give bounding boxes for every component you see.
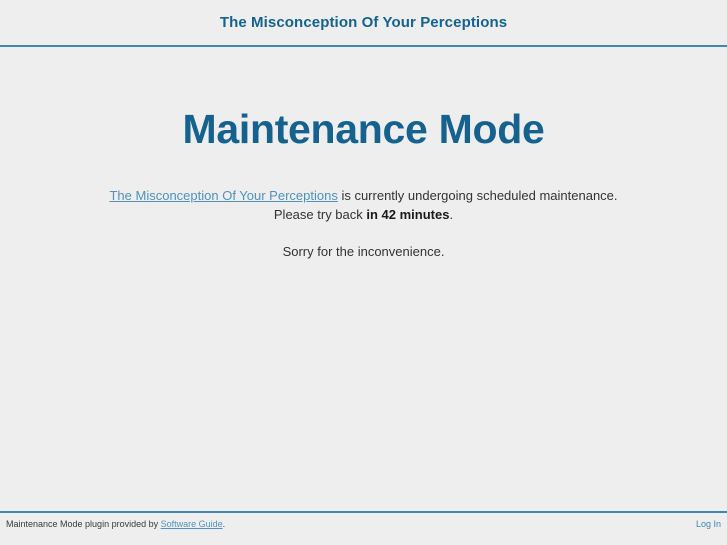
footer-credit-prefix: Maintenance Mode plugin provided by xyxy=(6,519,161,529)
maintenance-message-text: is currently undergoing scheduled mainte… xyxy=(338,188,618,203)
site-header: The Misconception Of Your Perceptions xyxy=(0,0,727,47)
try-back-prefix: Please try back xyxy=(274,207,367,222)
site-title: The Misconception Of Your Perceptions xyxy=(220,14,507,32)
plugin-provider-link[interactable]: Software Guide xyxy=(161,519,223,529)
site-footer: Maintenance Mode plugin provided by Soft… xyxy=(0,511,727,545)
retry-eta: in 42 minutes xyxy=(366,207,449,222)
footer-inner: Maintenance Mode plugin provided by Soft… xyxy=(0,513,727,545)
log-in-link[interactable]: Log In xyxy=(696,518,721,530)
maintenance-content: Maintenance Mode The Misconception Of Yo… xyxy=(0,47,727,261)
footer-credit-suffix: . xyxy=(223,519,226,529)
try-back-suffix: . xyxy=(449,207,453,222)
site-home-link[interactable]: The Misconception Of Your Perceptions xyxy=(109,188,337,203)
page-title: Maintenance Mode xyxy=(0,47,727,153)
footer-credit: Maintenance Mode plugin provided by Soft… xyxy=(6,518,721,530)
maintenance-message: The Misconception Of Your Perceptions is… xyxy=(0,153,727,224)
apology-text: Sorry for the inconvenience. xyxy=(0,224,727,261)
